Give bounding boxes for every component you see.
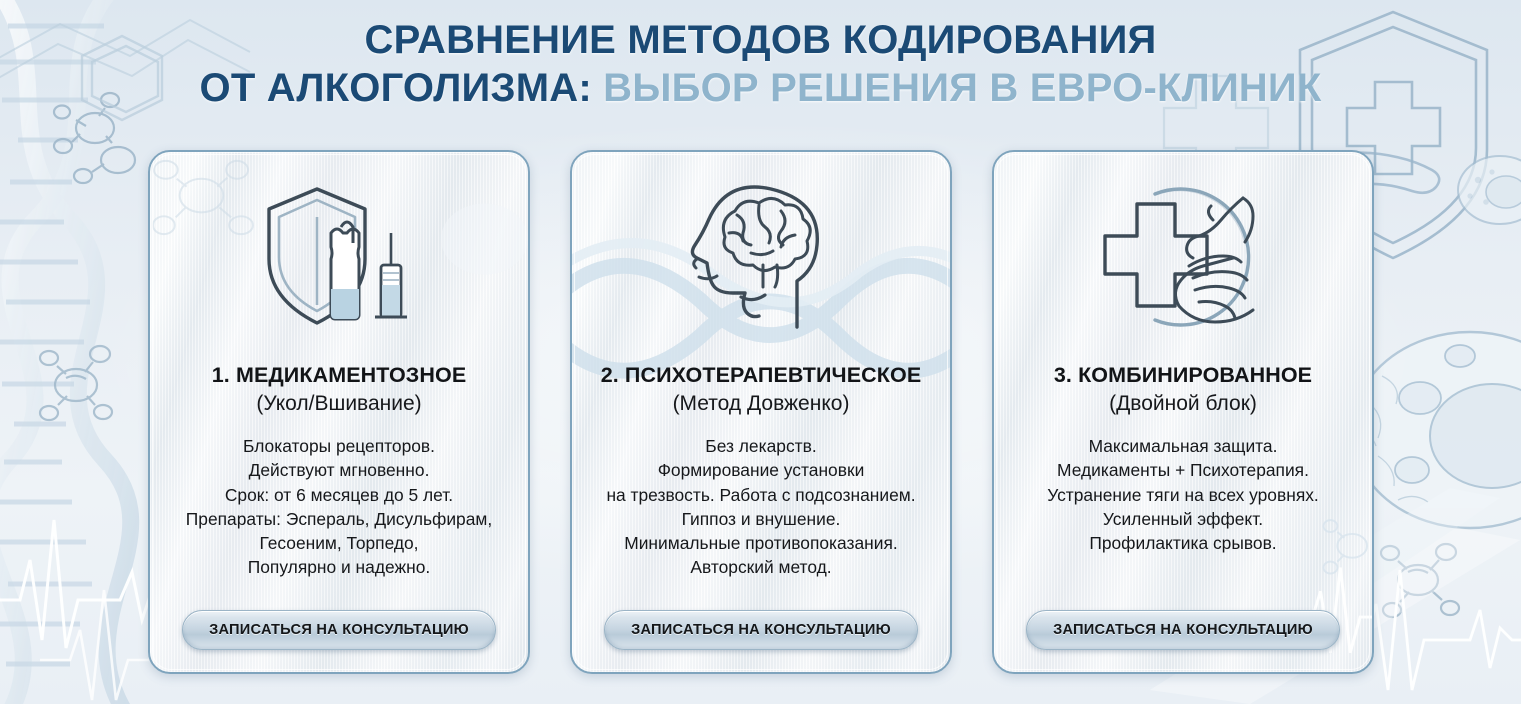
method-cards-container: 1. МЕДИКАМЕНТОЗНОЕ (Укол/Вшивание) Блока…: [148, 150, 1374, 674]
card-icon-slot: [994, 152, 1372, 362]
card-cta-slot: ЗАПИСАТЬСЯ НА КОНСУЛЬТАЦИЮ: [572, 610, 950, 650]
molecule-icon: [1323, 520, 1367, 573]
card-heading: 3. КОМБИНИРОВАННОЕ: [1054, 362, 1312, 388]
book-consultation-button[interactable]: ЗАПИСАТЬСЯ НА КОНСУЛЬТАЦИЮ: [604, 610, 918, 650]
book-consultation-button[interactable]: ЗАПИСАТЬСЯ НА КОНСУЛЬТАЦИЮ: [182, 610, 496, 650]
cell-icon: [1458, 156, 1521, 224]
title-line-1: СРАВНЕНИЕ МЕТОДОВ КОДИРОВАНИЯ: [0, 16, 1521, 64]
title-line-2-light: ВЫБОР РЕШЕНИЯ В ЕВРО-КЛИНИК: [603, 66, 1321, 110]
card-icon-slot: [150, 152, 528, 362]
card-body-text: Максимальная защита. Медикаменты + Психо…: [1037, 434, 1329, 555]
page-title: СРАВНЕНИЕ МЕТОДОВ КОДИРОВАНИЯ ОТ АЛКОГОЛ…: [0, 16, 1521, 112]
method-card-psychotherapy[interactable]: 2. ПСИХОТЕРАПЕВТИЧЕСКОЕ (Метод Довженко)…: [570, 150, 952, 674]
title-line-2-dark: ОТ АЛКОГОЛИЗМА:: [200, 66, 604, 110]
cross-helping-hands-icon: [1093, 180, 1273, 334]
card-subtitle: (Метод Довженко): [673, 390, 850, 418]
method-card-medication[interactable]: 1. МЕДИКАМЕНТОЗНОЕ (Укол/Вшивание) Блока…: [148, 150, 530, 674]
card-heading: 1. МЕДИКАМЕНТОЗНОЕ: [212, 362, 467, 388]
shield-ampoule-syringe-icon: [255, 181, 423, 333]
card-heading: 2. ПСИХОТЕРАПЕВТИЧЕСКОЕ: [601, 362, 922, 388]
title-line-2: ОТ АЛКОГОЛИЗМА: ВЫБОР РЕШЕНИЯ В ЕВРО-КЛИ…: [0, 64, 1521, 112]
card-body-text: Без лекарств. Формирование установки на …: [596, 434, 925, 580]
head-brain-icon: [685, 177, 837, 337]
book-consultation-button[interactable]: ЗАПИСАТЬСЯ НА КОНСУЛЬТАЦИЮ: [1026, 610, 1340, 650]
card-cta-slot: ЗАПИСАТЬСЯ НА КОНСУЛЬТАЦИЮ: [994, 610, 1372, 650]
card-body-text: Блокаторы рецепторов. Действуют мгновенн…: [176, 434, 502, 580]
card-cta-slot: ЗАПИСАТЬСЯ НА КОНСУЛЬТАЦИЮ: [150, 610, 528, 650]
card-icon-slot: [572, 152, 950, 362]
card-subtitle: (Укол/Вшивание): [256, 390, 421, 418]
card-subtitle: (Двойной блок): [1109, 390, 1257, 418]
method-card-combined[interactable]: 3. КОМБИНИРОВАННОЕ (Двойной блок) Максим…: [992, 150, 1374, 674]
